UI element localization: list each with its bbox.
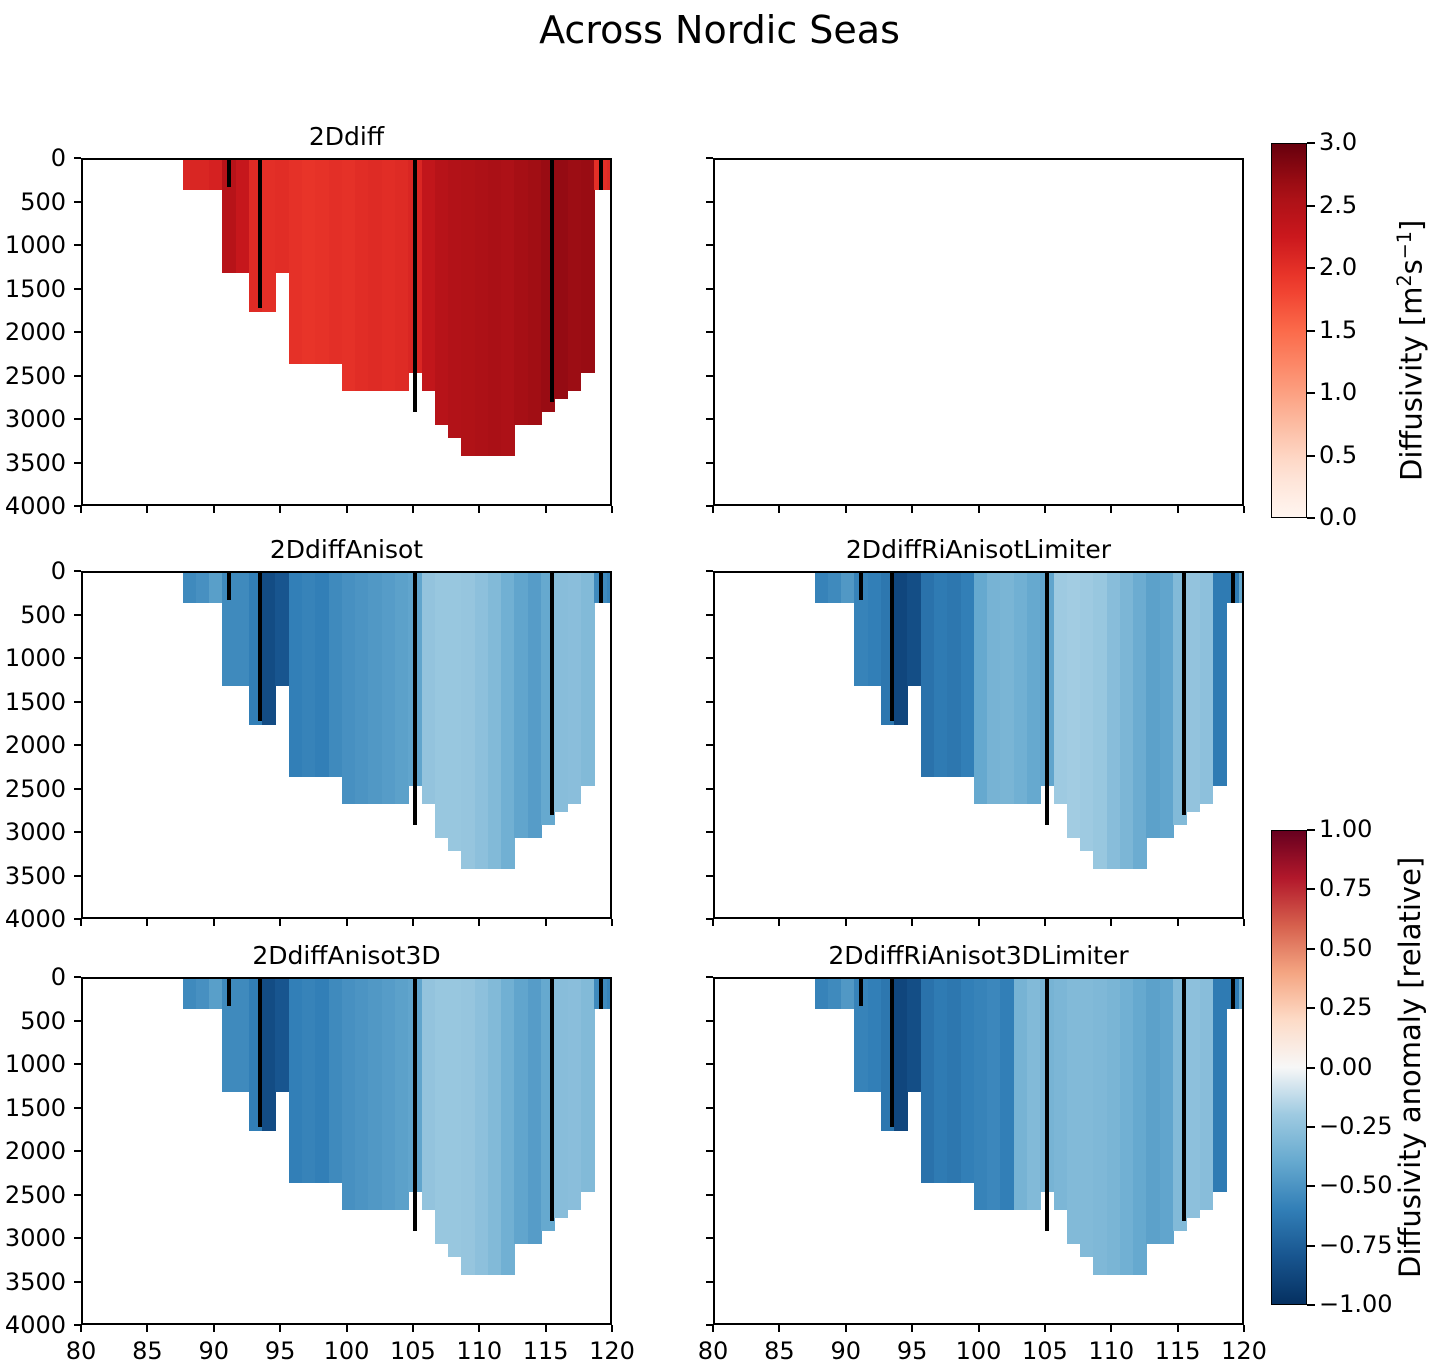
- data-column: [236, 573, 250, 686]
- colorbar-tick-label: −0.50: [1319, 1171, 1393, 1199]
- y-tick: [74, 1063, 81, 1065]
- data-column: [841, 573, 855, 603]
- x-tick: [545, 1325, 547, 1332]
- data-column: [907, 979, 921, 1092]
- y-tick: [706, 744, 713, 746]
- y-tick: [706, 570, 713, 572]
- data-column: [355, 979, 369, 1210]
- axes-r2-c1[interactable]: [713, 977, 1244, 1325]
- y-tick: [706, 418, 713, 420]
- y-tick: [706, 701, 713, 703]
- y-tick: [706, 657, 713, 659]
- station-line: [550, 160, 554, 402]
- data-column: [1146, 979, 1160, 1244]
- data-column: [514, 979, 528, 1244]
- colorbar-tick: [1307, 1304, 1315, 1306]
- x-tick: [611, 506, 613, 513]
- x-tick: [478, 1325, 480, 1332]
- data-column: [501, 979, 515, 1275]
- colorbar-tick: [1307, 142, 1315, 144]
- data-column: [302, 573, 316, 777]
- axes-r0-c1[interactable]: [713, 158, 1244, 506]
- data-column: [947, 573, 961, 777]
- data-column: [1160, 979, 1174, 1244]
- colorbar-tick: [1307, 455, 1315, 457]
- y-tick-label: 2000: [0, 731, 66, 759]
- colorbar-tick: [1307, 267, 1315, 269]
- panel-title-2DdiffAnisot3D: 2DdiffAnisot3D: [81, 941, 612, 970]
- data-column: [275, 160, 289, 273]
- data-column: [329, 160, 343, 364]
- data-column: [209, 573, 223, 603]
- x-tick: [213, 1325, 215, 1332]
- y-tick: [74, 875, 81, 877]
- data-column: [342, 979, 356, 1210]
- data-column: [1093, 979, 1107, 1275]
- data-column: [828, 573, 842, 603]
- station-line: [227, 979, 231, 1006]
- data-column: [921, 573, 935, 777]
- data-column: [275, 573, 289, 686]
- colorbar-tick-label: 0.75: [1319, 874, 1372, 902]
- x-tick: [80, 919, 82, 926]
- data-column: [581, 573, 595, 786]
- y-tick: [706, 1194, 713, 1196]
- colorbar-tick-label: 1.5: [1319, 316, 1357, 344]
- x-tick: [1044, 1325, 1046, 1332]
- station-line: [1045, 979, 1049, 1231]
- data-column: [196, 979, 210, 1009]
- y-tick: [74, 614, 81, 616]
- data-column: [1186, 573, 1200, 812]
- data-column: [554, 573, 568, 812]
- data-column: [289, 979, 303, 1183]
- y-tick-label: 500: [0, 1007, 66, 1035]
- station-line: [258, 573, 262, 721]
- station-line: [859, 573, 863, 600]
- data-column: [894, 979, 908, 1131]
- data-column: [974, 979, 988, 1210]
- y-tick-label: 1000: [0, 231, 66, 259]
- colorbar-tick-label: −0.75: [1319, 1231, 1393, 1259]
- data-column: [934, 979, 948, 1183]
- data-column: [894, 573, 908, 725]
- data-column: [236, 160, 250, 273]
- data-column: [987, 979, 1001, 1210]
- data-column: [196, 160, 210, 190]
- data-column: [1080, 979, 1094, 1257]
- station-line: [227, 160, 231, 187]
- x-tick: [1110, 1325, 1112, 1332]
- data-column: [568, 160, 582, 391]
- y-tick-label: 2000: [0, 1137, 66, 1165]
- colorbar-anomaly[interactable]: [1271, 830, 1307, 1305]
- data-column: [422, 573, 436, 804]
- data-column: [1239, 979, 1244, 1009]
- station-line: [599, 160, 603, 190]
- data-column: [368, 573, 382, 804]
- data-column: [554, 160, 568, 399]
- x-tick: [346, 919, 348, 926]
- colorbar-tick: [1307, 1245, 1315, 1247]
- data-column: [475, 160, 489, 456]
- data-column: [488, 573, 502, 869]
- y-tick-label: 4000: [0, 905, 66, 933]
- y-tick: [74, 701, 81, 703]
- data-column: [329, 573, 343, 777]
- y-tick-label: 3500: [0, 449, 66, 477]
- x-tick: [845, 919, 847, 926]
- data-column: [461, 979, 475, 1275]
- data-column: [568, 979, 582, 1210]
- x-tick: [545, 919, 547, 926]
- data-column: [183, 979, 197, 1009]
- y-tick: [74, 201, 81, 203]
- data-column: [1027, 979, 1041, 1210]
- x-tick: [845, 1325, 847, 1332]
- y-tick: [706, 1237, 713, 1239]
- y-tick: [706, 157, 713, 159]
- colorbar-tick-label: 0.00: [1319, 1053, 1372, 1081]
- data-column: [368, 979, 382, 1210]
- x-tick: [911, 1325, 913, 1332]
- x-tick: [1177, 506, 1179, 513]
- axes-r2-c0[interactable]: [81, 977, 612, 1325]
- y-tick-label: 4000: [0, 492, 66, 520]
- data-column: [382, 573, 396, 804]
- data-column: [196, 573, 210, 603]
- data-column: [607, 979, 612, 1009]
- y-tick: [74, 462, 81, 464]
- data-column: [315, 979, 329, 1183]
- colorbar-tick-label: 0.25: [1319, 993, 1372, 1021]
- data-column: [422, 160, 436, 391]
- y-tick: [706, 1020, 713, 1022]
- data-column: [934, 573, 948, 777]
- data-column: [501, 573, 515, 869]
- y-tick-label: 500: [0, 601, 66, 629]
- x-tick: [146, 919, 148, 926]
- y-tick: [74, 1194, 81, 1196]
- y-tick: [74, 831, 81, 833]
- x-tick: [279, 506, 281, 513]
- x-tick: [80, 506, 82, 513]
- x-tick: [712, 1325, 714, 1332]
- data-column: [395, 160, 409, 391]
- panel-title-2Ddiff: 2Ddiff: [81, 122, 612, 151]
- data-column: [1133, 573, 1147, 869]
- x-tick: [80, 1325, 82, 1332]
- y-tick: [706, 244, 713, 246]
- colorbar-title-anomaly: Diffusivity anomaly [relative]: [1393, 856, 1427, 1277]
- x-tick: [778, 506, 780, 513]
- y-tick-label: 0: [0, 144, 66, 172]
- y-tick: [74, 1107, 81, 1109]
- x-tick: [978, 506, 980, 513]
- colorbar-tick-label: 1.00: [1319, 815, 1372, 843]
- colorbar-title-diffusivity: Diffusivity [m2s−1]: [1393, 219, 1429, 480]
- x-tick: [412, 506, 414, 513]
- data-column: [302, 979, 316, 1183]
- data-column: [987, 573, 1001, 804]
- data-column: [1080, 573, 1094, 851]
- data-column: [382, 160, 396, 391]
- x-tick: [611, 919, 613, 926]
- station-line: [1231, 979, 1235, 1009]
- data-column: [1000, 573, 1014, 804]
- colorbar-tick: [1307, 1126, 1315, 1128]
- y-tick-label: 1000: [0, 1050, 66, 1078]
- data-column: [607, 573, 612, 603]
- data-column: [1186, 979, 1200, 1218]
- data-column: [1014, 573, 1028, 804]
- y-tick: [74, 744, 81, 746]
- data-column: [841, 979, 855, 1009]
- x-tick: [1177, 1325, 1179, 1332]
- colorbar-tick: [1307, 1067, 1315, 1069]
- data-column: [1093, 573, 1107, 869]
- x-tick: [279, 919, 281, 926]
- figure-title: Across Nordic Seas: [0, 8, 1439, 52]
- data-column: [568, 573, 582, 804]
- x-tick: [1044, 506, 1046, 513]
- data-column: [448, 573, 462, 851]
- y-tick: [74, 418, 81, 420]
- x-tick: [279, 1325, 281, 1332]
- station-line: [1231, 573, 1235, 603]
- data-column: [209, 160, 223, 190]
- data-column: [1200, 573, 1214, 804]
- station-line: [1243, 979, 1244, 1009]
- colorbar-tick-label: 2.0: [1319, 253, 1357, 281]
- axes-r1-c0[interactable]: [81, 571, 612, 919]
- data-column: [329, 979, 343, 1183]
- station-line: [611, 573, 612, 603]
- colorbar-tick: [1307, 888, 1315, 890]
- data-column: [488, 160, 502, 456]
- colorbar-tick: [1307, 948, 1315, 950]
- y-tick-label: 4000: [0, 1311, 66, 1339]
- data-column: [183, 573, 197, 603]
- y-tick: [706, 331, 713, 333]
- data-column: [355, 573, 369, 804]
- x-tick: [478, 506, 480, 513]
- y-tick: [706, 201, 713, 203]
- station-line: [1045, 573, 1049, 825]
- y-tick: [706, 288, 713, 290]
- colorbar-tick-label: 0.0: [1319, 503, 1357, 531]
- panel-title-2DdiffRiAnisotLimiter: 2DdiffRiAnisotLimiter: [713, 535, 1244, 564]
- x-tick: [1243, 1325, 1245, 1332]
- x-tick: [1177, 919, 1179, 926]
- data-column: [1067, 979, 1081, 1244]
- y-tick: [74, 1020, 81, 1022]
- station-line: [227, 573, 231, 600]
- data-column: [1120, 573, 1134, 869]
- data-column: [435, 979, 449, 1244]
- data-column: [974, 573, 988, 804]
- station-line: [611, 979, 612, 1009]
- x-tick: [146, 1325, 148, 1332]
- x-tick: [412, 1325, 414, 1332]
- data-column: [262, 160, 276, 312]
- x-tick: [545, 506, 547, 513]
- y-tick: [74, 244, 81, 246]
- data-column: [868, 979, 882, 1092]
- data-column: [1146, 573, 1160, 838]
- x-tick: [346, 506, 348, 513]
- data-column: [262, 573, 276, 725]
- colorbar-tick-label: −0.25: [1319, 1112, 1393, 1140]
- x-tick-label: 120: [567, 1337, 657, 1365]
- y-tick-label: 1500: [0, 1094, 66, 1122]
- colorbar-tick: [1307, 330, 1315, 332]
- station-line: [550, 573, 554, 815]
- panel-title-2DdiffAnisot: 2DdiffAnisot: [81, 535, 612, 564]
- data-column: [815, 979, 829, 1009]
- data-column: [815, 573, 829, 603]
- y-tick: [74, 375, 81, 377]
- x-tick: [911, 506, 913, 513]
- data-column: [302, 160, 316, 364]
- data-column: [448, 979, 462, 1257]
- y-tick-label: 2500: [0, 1181, 66, 1209]
- y-tick: [74, 976, 81, 978]
- data-column: [1213, 573, 1227, 786]
- station-line: [1182, 979, 1186, 1221]
- y-tick-label: 3000: [0, 405, 66, 433]
- station-line: [413, 160, 417, 412]
- y-tick: [706, 375, 713, 377]
- data-column: [183, 160, 197, 190]
- data-column: [1014, 979, 1028, 1210]
- data-column: [1027, 573, 1041, 804]
- data-column: [461, 160, 475, 456]
- data-column: [947, 979, 961, 1183]
- data-column: [921, 979, 935, 1183]
- station-line: [258, 160, 262, 308]
- station-line: [413, 573, 417, 825]
- data-column: [607, 160, 612, 190]
- station-line: [599, 979, 603, 1009]
- data-column: [355, 160, 369, 391]
- y-tick: [74, 657, 81, 659]
- x-tick: [978, 1325, 980, 1332]
- y-tick: [706, 1281, 713, 1283]
- data-column: [475, 573, 489, 869]
- data-column: [961, 979, 975, 1183]
- x-tick: [611, 1325, 613, 1332]
- data-column: [382, 979, 396, 1210]
- y-tick: [706, 1063, 713, 1065]
- station-line: [611, 160, 612, 190]
- y-tick-label: 0: [0, 557, 66, 585]
- y-tick-label: 3000: [0, 818, 66, 846]
- x-tick: [346, 1325, 348, 1332]
- data-column: [1120, 979, 1134, 1275]
- station-line: [413, 979, 417, 1231]
- colorbar-tick-label: 2.5: [1319, 191, 1357, 219]
- data-column: [289, 573, 303, 777]
- colorbar-diffusivity[interactable]: [1271, 143, 1307, 518]
- data-column: [448, 160, 462, 438]
- x-tick: [911, 919, 913, 926]
- y-tick-label: 0: [0, 963, 66, 991]
- colorbar-tick: [1307, 829, 1315, 831]
- y-tick: [706, 976, 713, 978]
- x-tick: [712, 919, 714, 926]
- axes-r1-c1[interactable]: [713, 571, 1244, 919]
- data-column: [1000, 979, 1014, 1210]
- axes-r0-c0[interactable]: [81, 158, 612, 506]
- data-column: [501, 160, 515, 456]
- data-column: [528, 160, 542, 425]
- y-tick-label: 500: [0, 188, 66, 216]
- x-tick: [1110, 506, 1112, 513]
- data-column: [528, 979, 542, 1244]
- data-column: [1107, 979, 1121, 1275]
- x-tick: [412, 919, 414, 926]
- data-column: [395, 573, 409, 804]
- data-column: [1160, 573, 1174, 838]
- x-tick: [778, 919, 780, 926]
- data-column: [461, 573, 475, 869]
- data-column: [1054, 573, 1068, 804]
- x-tick: [845, 506, 847, 513]
- station-line: [1243, 573, 1244, 603]
- data-column: [514, 160, 528, 425]
- y-tick: [74, 331, 81, 333]
- station-line: [890, 573, 894, 721]
- x-tick: [1110, 919, 1112, 926]
- data-column: [236, 979, 250, 1092]
- y-tick: [74, 788, 81, 790]
- x-tick: [146, 506, 148, 513]
- y-tick: [706, 614, 713, 616]
- y-tick-label: 2500: [0, 362, 66, 390]
- data-column: [488, 979, 502, 1275]
- y-tick: [74, 570, 81, 572]
- y-tick: [74, 288, 81, 290]
- station-line: [1182, 573, 1186, 815]
- y-tick-label: 3500: [0, 862, 66, 890]
- y-tick: [74, 157, 81, 159]
- colorbar-tick: [1307, 1185, 1315, 1187]
- data-column: [1133, 979, 1147, 1275]
- y-tick-label: 3000: [0, 1224, 66, 1252]
- data-column: [275, 979, 289, 1092]
- station-line: [890, 979, 894, 1127]
- station-line: [859, 979, 863, 1006]
- data-column: [435, 573, 449, 838]
- y-tick: [74, 1237, 81, 1239]
- data-column: [1200, 979, 1214, 1210]
- y-tick: [706, 831, 713, 833]
- colorbar-tick: [1307, 517, 1315, 519]
- data-column: [1054, 979, 1068, 1210]
- data-column: [828, 979, 842, 1009]
- y-tick-label: 2500: [0, 775, 66, 803]
- colorbar-tick-label: 0.50: [1319, 934, 1372, 962]
- figure-canvas: Across Nordic Seas 2Ddiff050010001500200…: [0, 0, 1439, 1369]
- x-tick: [978, 919, 980, 926]
- data-column: [1213, 979, 1227, 1192]
- data-column: [475, 979, 489, 1275]
- y-tick: [706, 1107, 713, 1109]
- y-tick: [706, 462, 713, 464]
- x-tick: [1243, 919, 1245, 926]
- x-tick: [712, 506, 714, 513]
